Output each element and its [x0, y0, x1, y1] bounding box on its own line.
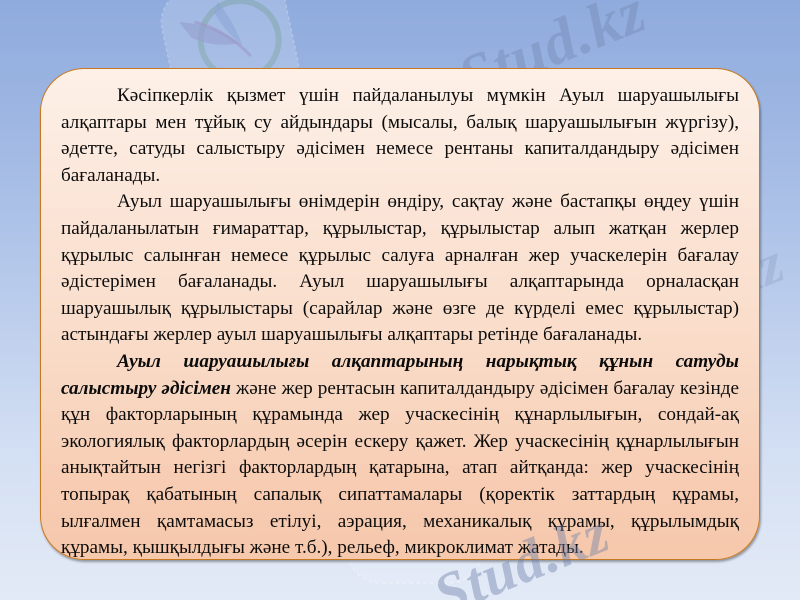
content-card: Кәсіпкерлік қызмет үшін пайдаланылуы мүм… — [40, 68, 760, 560]
paragraph-3-body: және жер рентасын капиталдандыру әдісіме… — [61, 378, 739, 559]
paragraph-1: Кәсіпкерлік қызмет үшін пайдаланылуы мүм… — [61, 83, 739, 189]
slide-canvas: Stud.kz Stud.kz Stud.kz Stud.kz Stud.kz … — [0, 0, 800, 600]
paragraph-3: Ауыл шаруашылығы алқаптарының нарықтық қ… — [61, 349, 739, 562]
paragraph-2: Ауыл шаруашылығы өнімдерін өндіру, сақта… — [61, 189, 739, 349]
